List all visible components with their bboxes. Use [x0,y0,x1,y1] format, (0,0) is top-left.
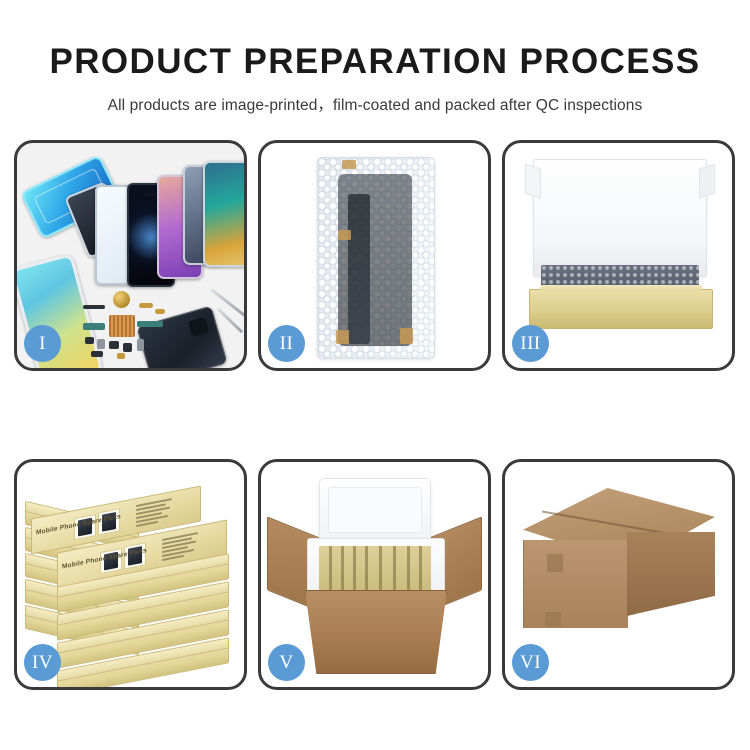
tape-bottom-right-icon [400,328,413,344]
logic-chip-icon [109,315,135,337]
bubble-wrap-bag-icon [317,157,435,359]
process-step-card-1[interactable]: I [14,140,247,371]
earpiece-part-icon [83,305,105,309]
step-badge-6: VI [512,644,549,681]
retail-box-spec-lines-a [136,497,176,529]
step-2-illustration: II [261,143,488,368]
tape-top-icon [342,160,356,169]
process-step-card-4[interactable]: Mobile Phone Spare Parts Mobile Phone Sp… [14,459,247,690]
tweezers-icon [211,288,244,316]
tape-middle-icon [338,230,351,240]
step-1-illustration: I [17,143,244,368]
kraft-tray-icon [529,289,713,329]
small-part-e-icon [137,339,144,351]
foam-lid-open-icon [319,478,431,542]
page-subtitle: All products are image-printed，film-coat… [0,79,750,115]
flex-cable-right-icon [137,321,163,327]
step-5-illustration: V [261,462,488,687]
flex-cable-left-icon [83,323,105,330]
carton-front-panel-icon [523,540,628,628]
step-4-illustration: Mobile Phone Spare Parts Mobile Phone Sp… [17,462,244,687]
retail-box-spec-lines-b [162,531,202,563]
step-badge-2: II [268,325,305,362]
carton-side-panel-icon [627,532,715,616]
step-badge-1: I [24,325,61,362]
carton-tape-lower-icon [545,612,561,626]
process-step-card-2[interactable]: II [258,140,491,371]
phone-teal-screen-icon [203,161,244,267]
process-step-card-5[interactable]: V [258,459,491,690]
page-title: PRODUCT PREPARATION PROCESS [0,0,750,79]
spare-parts-cluster [83,299,179,368]
page-header: PRODUCT PREPARATION PROCESS All products… [0,0,750,115]
step-badge-4: IV [24,644,61,681]
process-step-card-3[interactable]: III [502,140,735,371]
small-part-c-icon [109,341,119,349]
step-badge-5: V [268,644,305,681]
small-part-a-icon [85,337,94,344]
step-6-illustration: VI [505,462,732,687]
process-step-grid: I II III [14,140,736,730]
step-badge-3: III [512,325,549,362]
gold-connector-icon [139,303,153,308]
carton-tape-upper-icon [547,554,563,572]
process-step-card-6[interactable]: VI [502,459,735,690]
step-3-illustration: III [505,143,732,368]
small-part-f-icon [91,351,103,357]
speaker-part-icon [113,291,130,308]
wrapped-part-strip [348,194,370,344]
foam-lid-icon [533,159,707,277]
gold-connector-2-icon [155,309,165,314]
carton-body-icon [305,590,447,674]
packed-retail-boxes-icon [319,546,431,592]
tape-bottom-left-icon [336,330,349,344]
small-part-b-icon [97,339,105,349]
small-part-g-icon [117,353,125,359]
small-part-d-icon [123,343,132,352]
